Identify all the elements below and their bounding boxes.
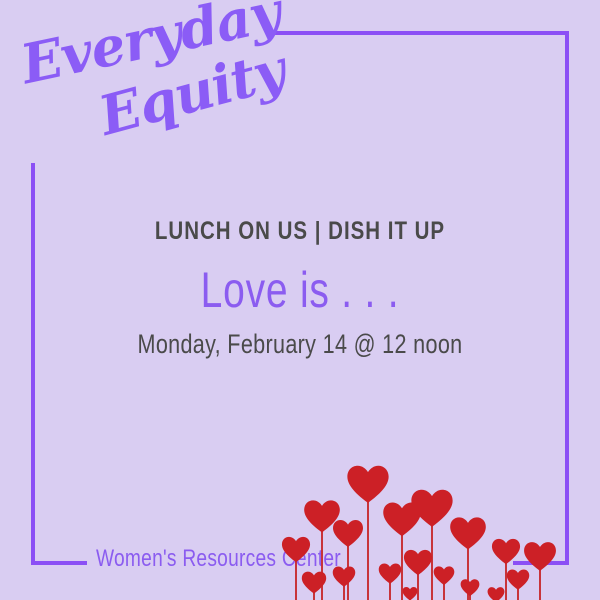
main-message-block: LUNCH ON US | DISH IT UP Love is . . . M… [0,218,600,360]
event-headline: Love is . . . [66,264,534,317]
event-datetime: Monday, February 14 @ 12 noon [60,330,540,360]
organization-name: Women's Resources Center [96,545,341,573]
frame-segment-top [273,31,569,35]
event-kicker: LUNCH ON US | DISH IT UP [54,218,546,246]
poster-canvas: Everyday Equity LUNCH ON US | DISH IT UP… [0,0,600,600]
frame-segment-bottom-left [31,561,87,565]
frame-segment-bottom-right [513,561,569,565]
